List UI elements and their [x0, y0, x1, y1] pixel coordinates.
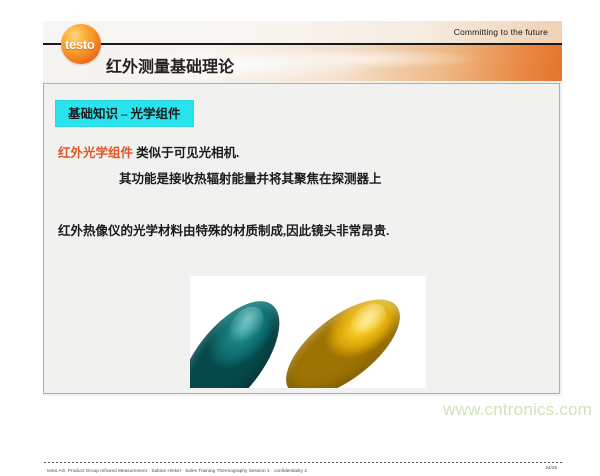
slide-title: 红外测量基础理论 — [106, 53, 234, 77]
slide-body-panel: 基础知识 – 光学组件 红外光学组件 类似于可见光相机. 其功能是接收热辐射能量… — [43, 83, 560, 394]
slide-header: Committing to the future testo 红外测量基础理论 — [43, 21, 562, 81]
slide-footer: testo AG, Product Group Infrared Measure… — [47, 465, 563, 476]
testo-logo-sphere-icon — [61, 24, 101, 64]
body-paragraph-3: 红外热像仪的光学材料由特殊的材质制成,因此镜头非常昂贵. — [58, 220, 389, 239]
brand-tagline: Committing to the future — [454, 27, 548, 37]
teal-lens-shape — [190, 285, 298, 388]
footer-dotted-rule — [44, 462, 563, 463]
header-divider-rule — [43, 43, 562, 45]
slide-canvas: Committing to the future testo 红外测量基础理论 … — [43, 21, 562, 396]
body-paragraph-1: 红外光学组件 类似于可见光相机. — [58, 142, 239, 161]
body-paragraph-1-accent: 红外光学组件 — [58, 146, 133, 160]
gold-lens-shape — [270, 282, 415, 388]
lens-figure-image — [190, 276, 426, 388]
subtitle-text: 基础知识 – 光学组件 — [68, 107, 181, 121]
footer-text: testo AG, Product Group Infrared Measure… — [47, 468, 307, 473]
slide-left-margin — [0, 0, 43, 424]
site-watermark: www.cntronics.com — [443, 400, 592, 420]
body-paragraph-1-rest: 类似于可见光相机. — [133, 146, 239, 160]
body-paragraph-2: 其功能是接收热辐射能量并将其聚焦在探测器上 — [119, 168, 382, 187]
subtitle-highlight-box: 基础知识 – 光学组件 — [55, 100, 194, 127]
presentation-slide: Committing to the future testo 红外测量基础理论 … — [0, 0, 600, 424]
footer-page-number: 24/25 — [546, 465, 558, 470]
